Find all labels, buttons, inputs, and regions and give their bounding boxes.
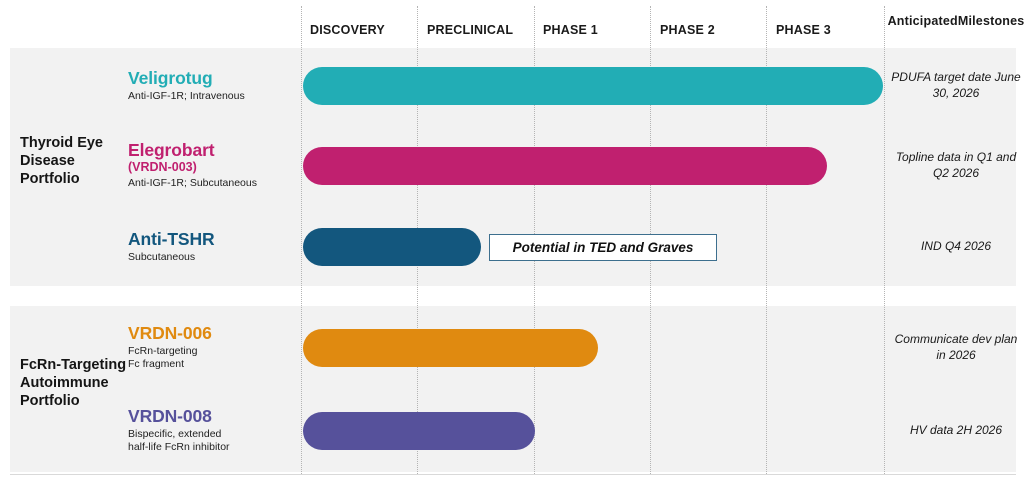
column-header-phase-3: PHASE 3: [776, 0, 876, 44]
column-headers: DISCOVERYPRECLINICALPHASE 1PHASE 2PHASE …: [0, 0, 1026, 44]
column-header-phase-1: PHASE 1: [543, 0, 643, 44]
phase-divider-0: [301, 6, 302, 474]
phase-bar-vrdn-006[interactable]: [303, 329, 598, 367]
milestone-anti-tshr: IND Q4 2026: [890, 239, 1022, 255]
portfolio-label-fcrn-targeting-autoimmune-portfolio: FcRn-Targeting Autoimmune Portfolio: [20, 357, 132, 411]
column-header-line2: Milestones: [958, 14, 1025, 29]
milestone-vrdn-008: HV data 2H 2026: [890, 423, 1022, 439]
column-header-anticipated-milestones: AnticipatedMilestones: [890, 0, 1022, 44]
phase-bar-veligrotug[interactable]: [303, 67, 883, 105]
milestone-veligrotug: PDUFA target date June 30, 2026: [890, 70, 1022, 102]
phase-bar-vrdn-008[interactable]: [303, 412, 535, 450]
callout-potential-in-ted-and-graves: Potential in TED and Graves: [489, 234, 717, 261]
portfolio-label-thyroid-eye-disease-portfolio: Thyroid Eye Disease Portfolio: [20, 135, 132, 189]
milestone-elegrobart: Topline data in Q1 and Q2 2026: [890, 150, 1022, 182]
phase-bar-elegrobart[interactable]: [303, 147, 827, 185]
bottom-divider: [10, 474, 1016, 475]
pipeline-chart: Thyroid Eye Disease PortfolioFcRn-Target…: [0, 0, 1026, 478]
phase-bar-anti-tshr[interactable]: [303, 228, 481, 266]
column-header-discovery: DISCOVERY: [310, 0, 415, 44]
milestone-vrdn-006: Communicate dev plan in 2026: [890, 332, 1022, 364]
phase-divider-5: [884, 6, 885, 474]
column-header-phase-2: PHASE 2: [660, 0, 760, 44]
column-header-preclinical: PRECLINICAL: [427, 0, 532, 44]
column-header-line1: Anticipated: [888, 14, 958, 29]
